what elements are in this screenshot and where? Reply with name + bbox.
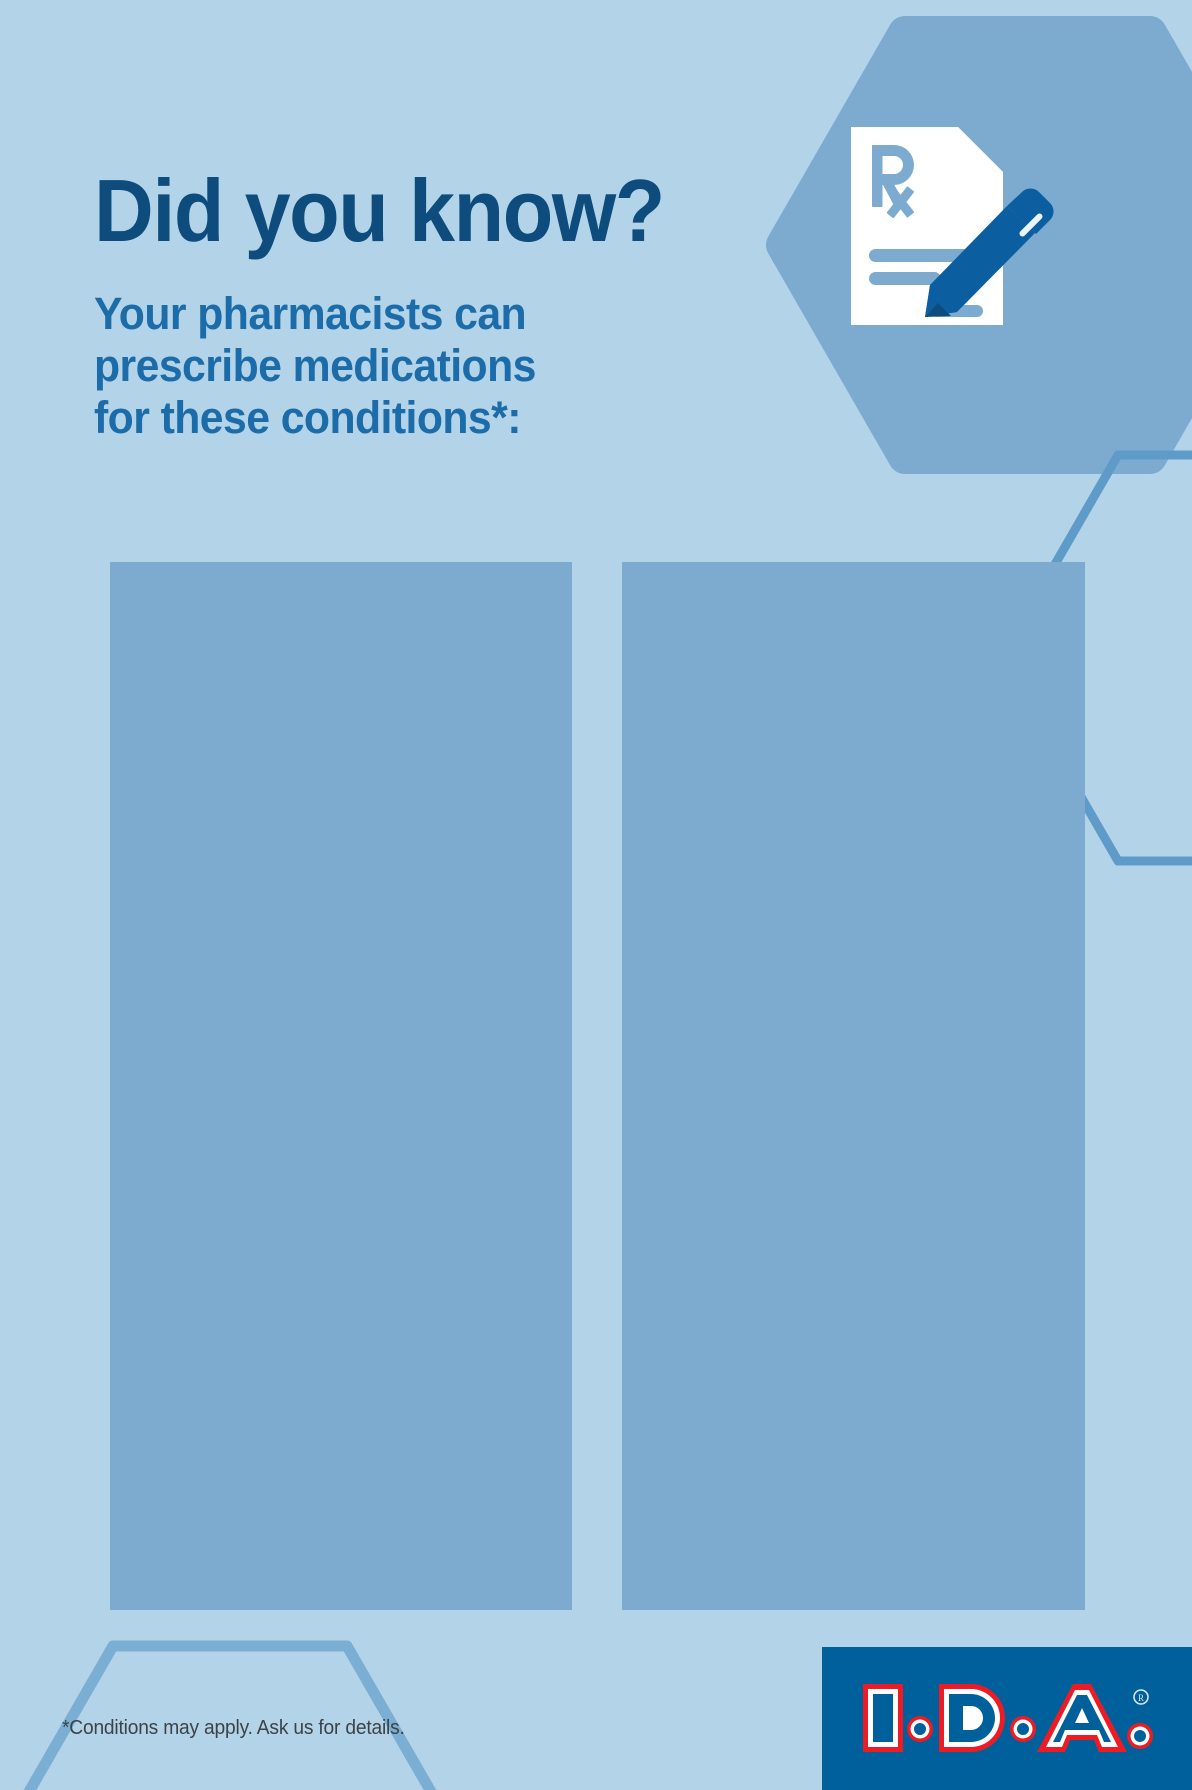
logo-letter-i — [863, 1684, 903, 1752]
document-page — [851, 127, 1003, 325]
logo-dot — [1127, 1723, 1153, 1749]
subheading-line-2: prescribe medications — [94, 340, 536, 392]
subheading-line-1: Your pharmacists can — [94, 288, 536, 340]
logo-dot — [907, 1716, 933, 1742]
document-line — [869, 249, 984, 262]
conditions-panel-right — [622, 562, 1085, 1610]
document-folded-corner — [958, 127, 1003, 172]
registered-trademark-icon: R — [1134, 1690, 1148, 1704]
footnote-disclaimer: *Conditions may apply. Ask us for detail… — [62, 1716, 405, 1740]
svg-text:R: R — [1138, 1693, 1144, 1703]
ida-logo: R — [822, 1647, 1192, 1790]
hexagon-filled-icon — [783, 33, 1192, 457]
rx-symbol — [872, 145, 914, 218]
subheading: Your pharmacists can prescribe medicatio… — [94, 288, 536, 444]
pencil-icon — [925, 188, 1054, 317]
logo-letter-a — [1037, 1684, 1127, 1752]
ida-logo-mark: R — [857, 1676, 1157, 1762]
page-title: Did you know? — [94, 167, 664, 255]
logo-letter-d — [939, 1684, 1005, 1752]
poster-root: Did you know? Your pharmacists can presc… — [0, 0, 1192, 1790]
subheading-line-3: for these conditions*: — [94, 392, 536, 444]
document-line — [869, 272, 941, 285]
logo-dot — [1010, 1716, 1036, 1742]
signature-line — [931, 305, 983, 317]
conditions-panel-left — [110, 562, 572, 1610]
